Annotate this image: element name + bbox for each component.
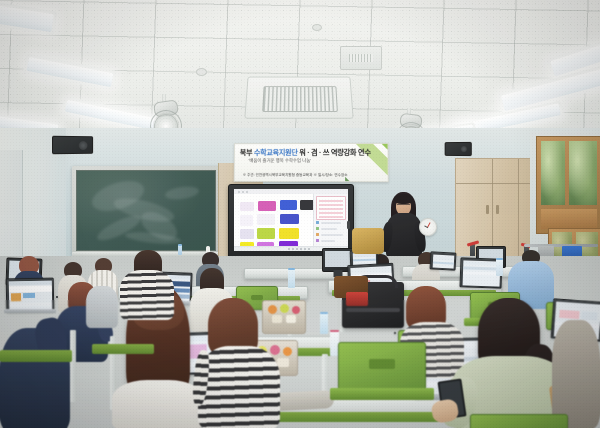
display-tile[interactable] — [257, 228, 275, 239]
chair[interactable] — [470, 414, 568, 428]
wall-speaker-left — [52, 136, 93, 154]
window-pane — [569, 141, 597, 205]
laptop-screen — [432, 254, 454, 268]
display-tile[interactable] — [279, 228, 299, 239]
vent-grille — [262, 86, 338, 112]
display-side-panel — [313, 194, 348, 247]
display-screen[interactable] — [234, 189, 348, 251]
display-power-button[interactable] — [347, 221, 350, 229]
display-tile[interactable] — [280, 214, 299, 224]
laptop-screen — [462, 260, 500, 286]
display-canvas — [234, 194, 314, 247]
display-tile[interactable] — [240, 215, 253, 226]
display-tile[interactable] — [240, 229, 254, 239]
wall-clock — [419, 218, 437, 236]
display-tile[interactable] — [257, 214, 275, 225]
display-tile[interactable] — [258, 201, 276, 211]
water-bottle — [178, 244, 182, 255]
attendee-foreground-far-left — [0, 298, 70, 428]
banner-title: 북부 수학교육지원단 워 · 겸 · 쓰 역량강화 연수 — [240, 148, 363, 157]
chair-seat[interactable] — [0, 350, 72, 362]
window-sill — [541, 209, 597, 229]
side-panel-card — [316, 196, 346, 220]
chair-seat[interactable] — [92, 344, 154, 354]
water-bottle[interactable] — [288, 268, 295, 288]
ac-cassette-vent — [244, 77, 353, 119]
chair[interactable] — [338, 342, 426, 390]
glasses-icon — [397, 204, 410, 208]
laptop-spacer-2 — [394, 332, 396, 334]
diffuser-grille — [349, 54, 373, 62]
window-frame-upper — [536, 136, 600, 234]
desk-leg — [70, 330, 76, 402]
window-pane — [541, 141, 565, 205]
chair-seat[interactable] — [330, 388, 434, 400]
cabinet-handle[interactable] — [496, 205, 499, 214]
bag-red-accent — [346, 292, 368, 306]
display-tile[interactable] — [240, 202, 254, 211]
water-bottle[interactable] — [496, 258, 503, 276]
display-tile[interactable] — [300, 200, 314, 210]
attendee-far-right — [552, 320, 600, 428]
banner-footer: ※ 주관: 인천광역시북부교육지원청 중등교육과 ※ 일시/장소: 연수장소 — [243, 173, 368, 178]
wall-speaker-right — [445, 142, 472, 156]
water-bottle[interactable] — [320, 312, 328, 334]
chalkboard — [72, 166, 220, 256]
window-rail — [524, 244, 598, 247]
display-tile[interactable] — [280, 200, 297, 210]
chalkboard-surface — [76, 170, 216, 251]
attendee-striped — [198, 298, 280, 428]
attendee-striped-back — [120, 250, 174, 318]
event-banner: 북부 수학교육지원단 워 · 겸 · 쓰 역량강화 연수 '배움이 즐거운 행복… — [234, 143, 389, 182]
smoke-detector-icon — [196, 68, 207, 76]
banner-subtitle: '배움이 즐거운 행복 수학수업 나눔' — [249, 158, 360, 164]
laptop[interactable] — [430, 251, 457, 270]
bag-yellow[interactable] — [352, 228, 384, 254]
cabinet-handle[interactable] — [486, 205, 489, 214]
classroom-photo: 북부 수학교육지원단 워 · 겸 · 쓰 역량강화 연수 '배움이 즐거운 행복… — [0, 0, 600, 428]
ceiling-diffuser — [340, 46, 382, 70]
smoke-detector-icon — [312, 24, 322, 31]
left-wall-panel — [0, 150, 23, 260]
